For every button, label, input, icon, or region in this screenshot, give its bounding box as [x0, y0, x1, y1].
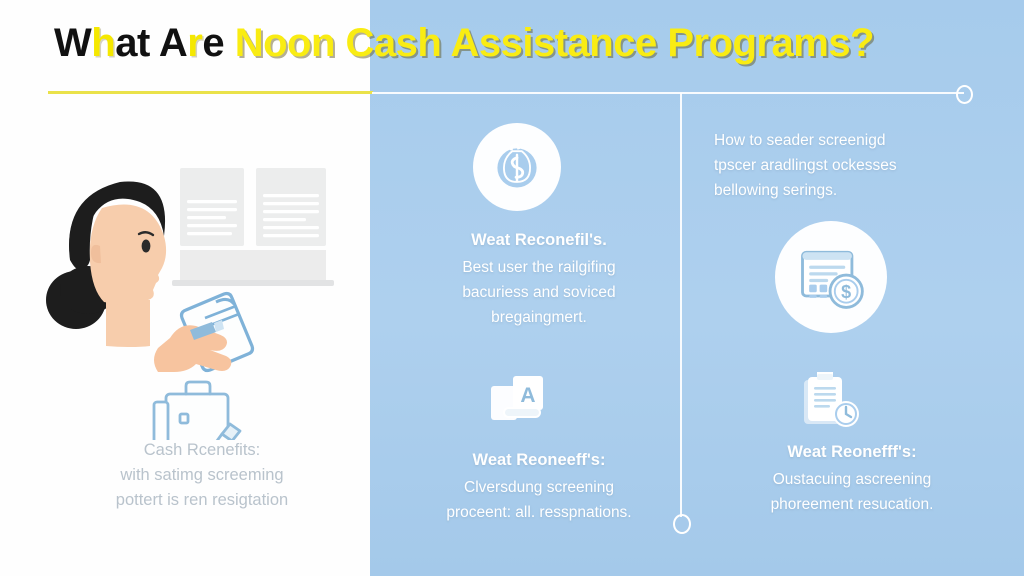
right-bottom-line-2: phoreement resucation. — [771, 496, 934, 513]
left-illustration — [40, 150, 370, 440]
title-segment-black-3: e — [202, 21, 234, 65]
woman-reviewing-documents-illustration — [40, 150, 370, 440]
briefcase-pencil-cup-icon — [154, 382, 262, 440]
right-bottom-heading: Weat Reonefff's: — [712, 440, 992, 465]
column-divider — [680, 93, 682, 517]
woman-profile-icon — [46, 181, 166, 347]
middle-top-line-1: Best user the railgifing — [462, 259, 615, 276]
title-underline-yellow — [48, 91, 373, 94]
left-caption-line-1: with satimg screeming — [120, 466, 283, 484]
svg-text:$: $ — [841, 282, 851, 302]
page-title: What Are Noon Cash Assistance Programs? — [54, 16, 1004, 70]
middle-bottom-line-1: Clversdung screening — [464, 479, 614, 496]
middle-top-line-2: bacuriess and soviced — [462, 284, 615, 301]
document-panels-icon — [172, 168, 334, 286]
middle-top-heading: Weat Reconefil's. — [404, 228, 674, 253]
money-bag-icon-badge — [473, 123, 561, 211]
money-bag-icon — [489, 139, 545, 195]
left-caption-line-2: pottert is ren resigtation — [116, 491, 288, 509]
invoice-with-coin-icon: $ — [793, 239, 869, 315]
right-top-line-1: How to seader screenigd — [714, 132, 885, 149]
clipboard-with-clock-icon — [798, 372, 864, 430]
title-segment-black-2: at A — [115, 21, 187, 65]
left-caption-heading: Cash Rcenefits: — [52, 438, 352, 463]
middle-top-line-3: bregaingmert. — [491, 309, 587, 326]
title-segment-black-1: W — [54, 21, 91, 65]
stacked-cards-letter-a-icon: A — [487, 374, 549, 428]
middle-top-text: Weat Reconefil's. Best user the railgifi… — [404, 228, 674, 330]
right-top-text: How to seader screenigd tpscer aradlings… — [714, 128, 979, 203]
right-bottom-text: Weat Reonefff's: Oustacuing ascreening p… — [712, 440, 992, 517]
left-caption: Cash Rcenefits: with satimg screeming po… — [52, 438, 352, 513]
right-top-line-3: bellowing serings. — [714, 182, 837, 199]
title-segment-yellow-2: r — [187, 21, 202, 65]
stacked-cards-icon: A — [487, 374, 549, 428]
middle-bottom-heading: Weat Reoneeff's: — [404, 448, 674, 473]
svg-text:A: A — [520, 384, 535, 407]
infographic-canvas: What Are Noon Cash Assistance Programs? — [0, 0, 1024, 576]
middle-bottom-line-2: proceent: all. resspnations. — [446, 504, 631, 521]
invoice-with-coin-icon-badge: $ — [775, 221, 887, 333]
right-bottom-line-1: Oustacuing ascreening — [773, 471, 932, 488]
title-segment-yellow-1: h — [91, 21, 115, 65]
divider-end-circle-icon — [673, 514, 691, 534]
timeline-rule-white — [372, 92, 964, 94]
right-top-line-2: tpscer aradlingst ockesses — [714, 157, 897, 174]
title-segment-yellow-3: Noon Cash Assistance Programs? — [235, 21, 874, 65]
clipboard-clock-icon — [798, 372, 864, 430]
middle-bottom-text: Weat Reoneeff's: Clversdung screening pr… — [404, 448, 674, 525]
circle-end-marker-icon — [956, 85, 973, 104]
